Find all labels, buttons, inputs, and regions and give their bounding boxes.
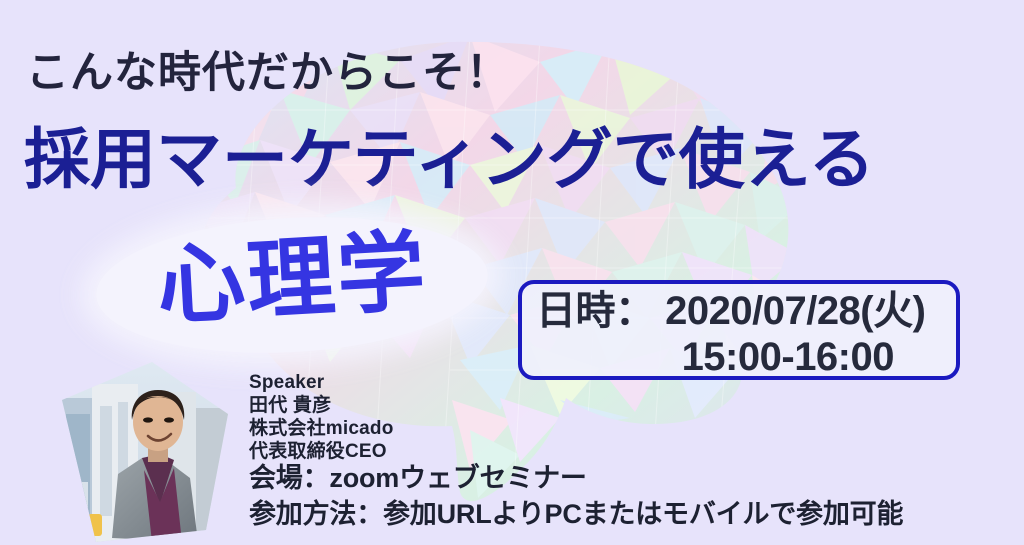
speaker-role-label: Speaker: [249, 371, 394, 394]
datetime-box: 日時： 2020/07/28(火) 15:00-16:00: [518, 280, 960, 380]
datetime-date: 日時： 2020/07/28(火): [536, 288, 940, 335]
main-headline: 採用マーケティングで使える: [24, 126, 875, 192]
speaker-company: 株式会社micado: [249, 417, 394, 440]
seminar-banner: こんな時代だからこそ！ 採用マーケティングで使える 心理学 日時： 2020/0…: [0, 0, 1024, 545]
speaker-title: 代表取締役CEO: [249, 440, 394, 463]
keyword-badge: 心理学: [96, 218, 488, 352]
datetime-time: 15:00-16:00: [536, 335, 940, 379]
event-venue: 会場：zoomウェブセミナー: [249, 461, 903, 497]
speaker-name: 田代 貴彦: [249, 394, 394, 417]
speaker-info: Speaker 田代 貴彦 株式会社micado 代表取締役CEO: [249, 371, 394, 463]
event-details: 会場：zoomウェブセミナー 参加方法：参加URLよりPCまたはモバイルで参加可…: [249, 461, 903, 533]
kicker-text: こんな時代だからこそ！: [26, 52, 510, 95]
event-participation: 参加方法：参加URLよりPCまたはモバイルで参加可能: [249, 497, 903, 533]
speaker-portrait-photo: [56, 362, 228, 542]
